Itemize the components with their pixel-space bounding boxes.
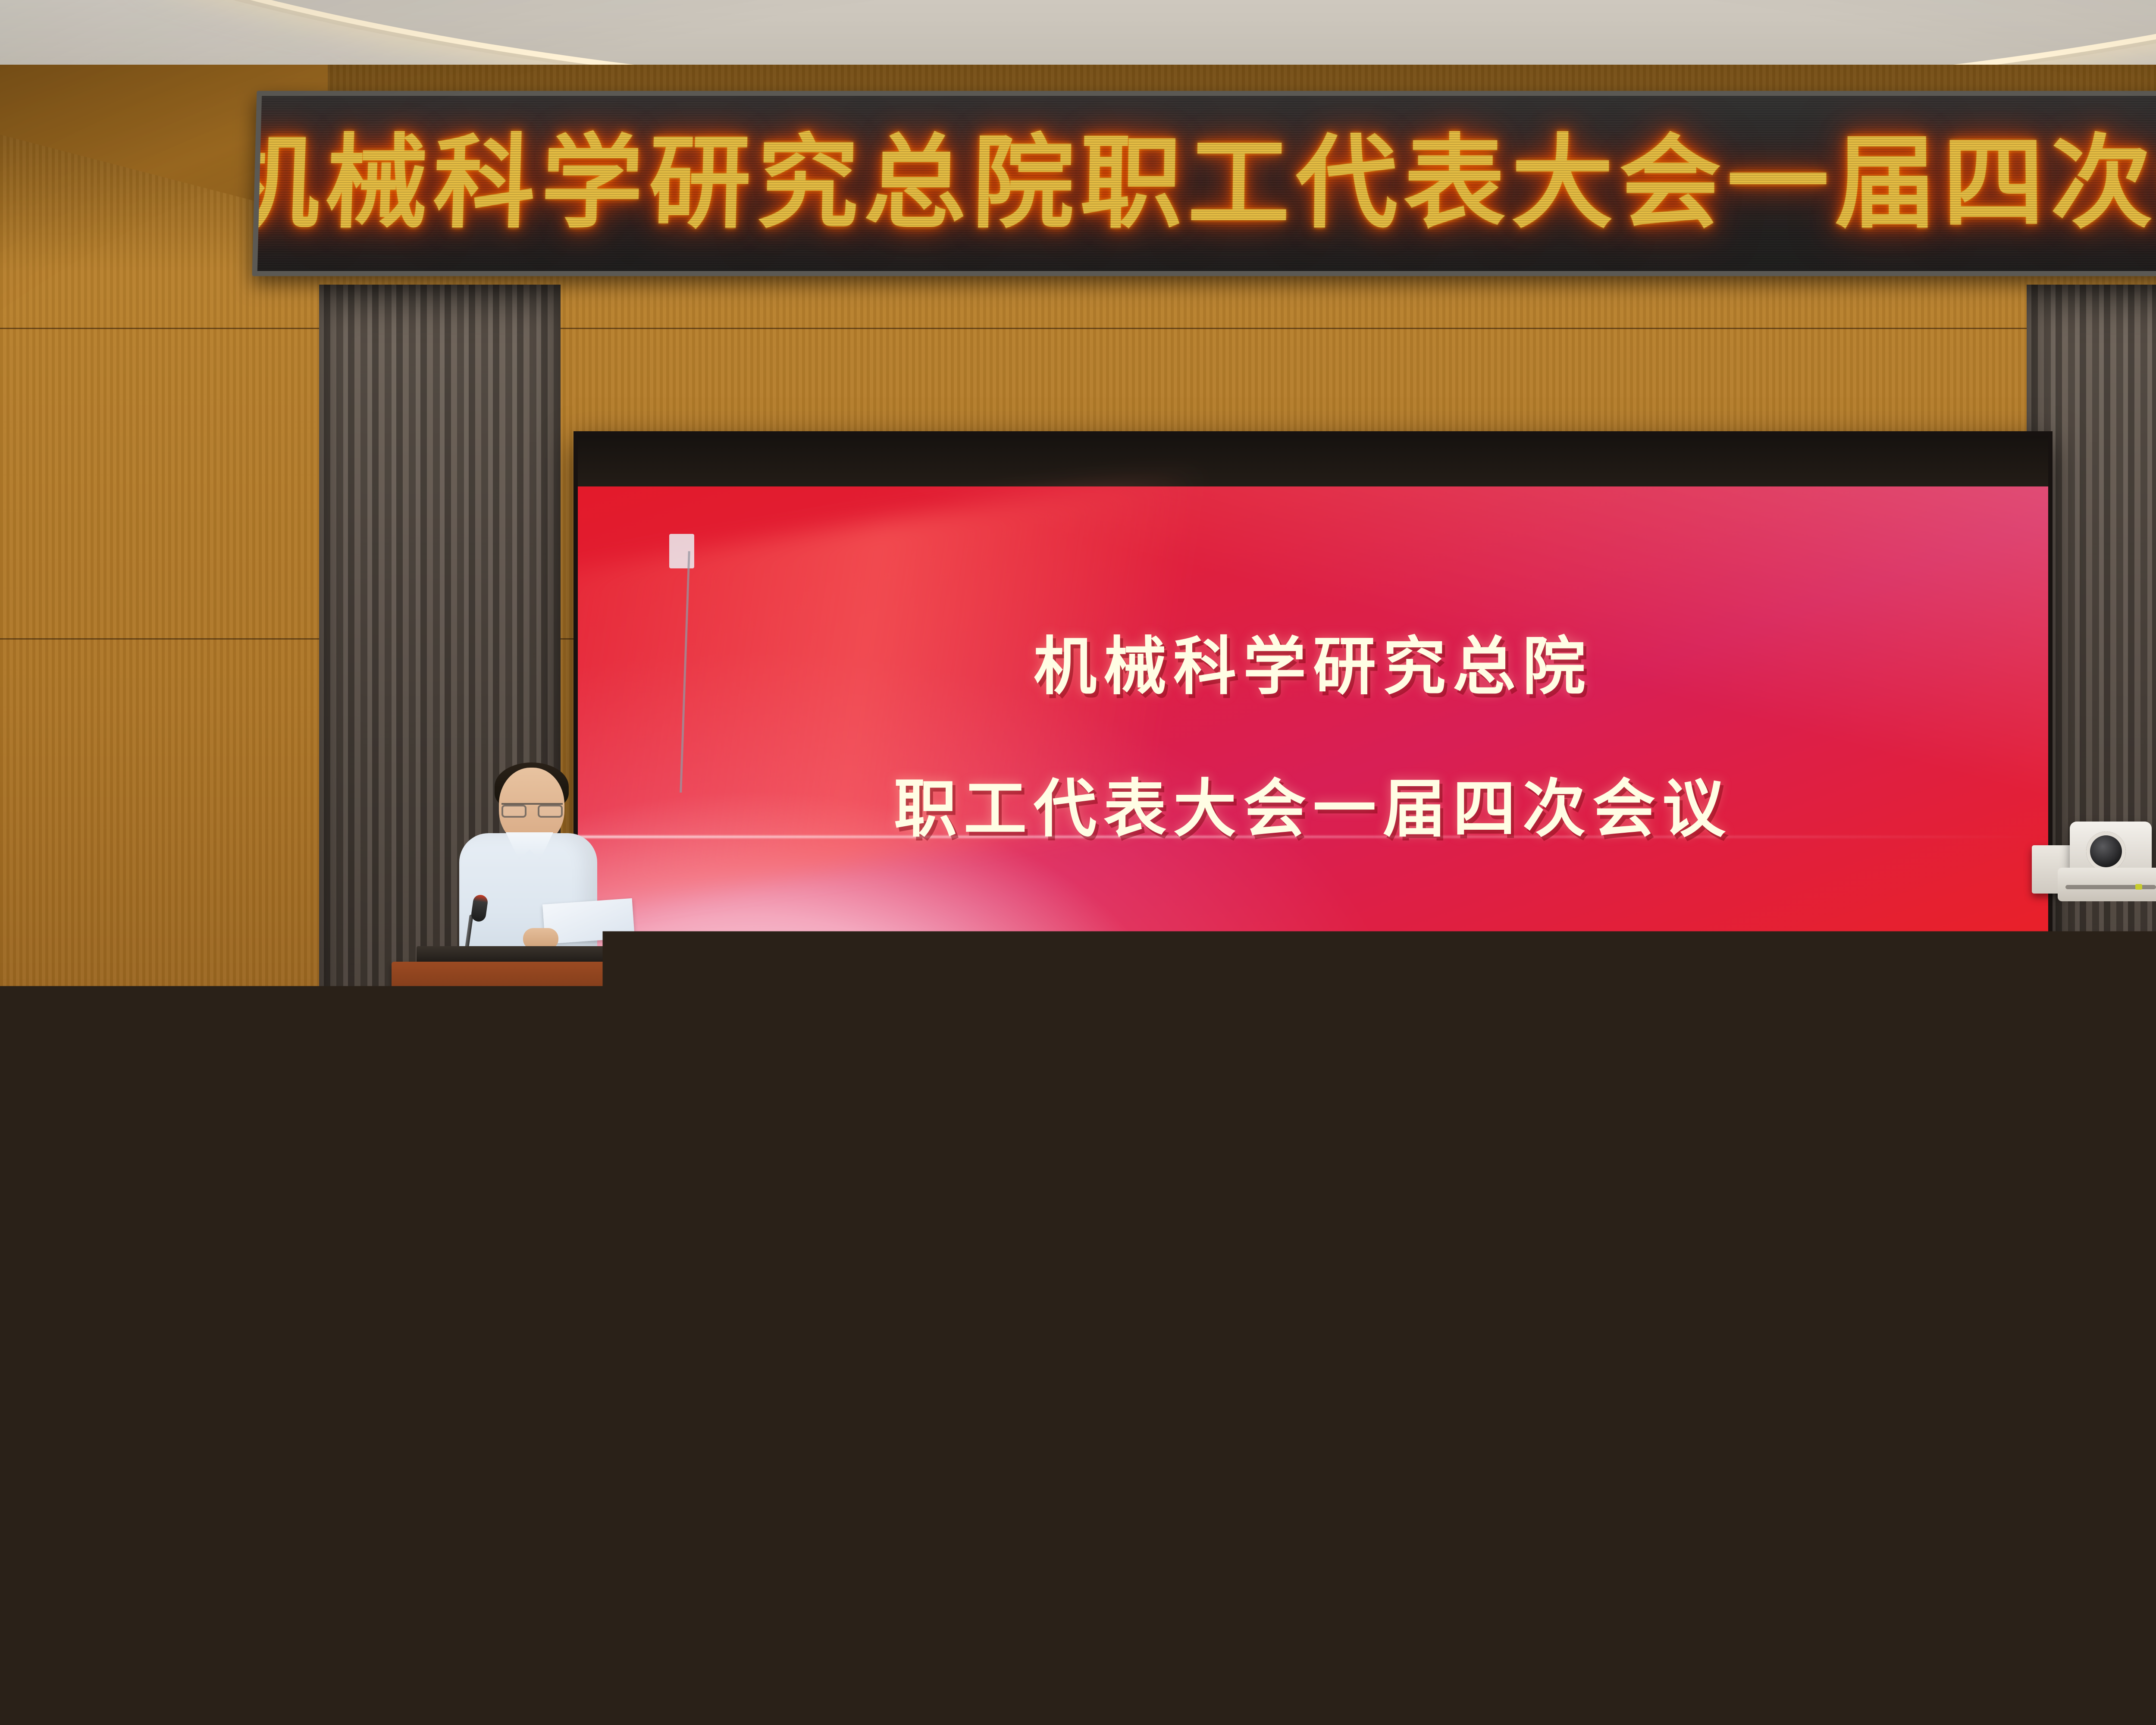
- camera-ir-slot: [2065, 885, 2156, 889]
- chair: [1846, 1621, 2156, 1725]
- led-banner-text: 机械科学研究总院职工代表大会一届四次会议: [252, 132, 2156, 234]
- podium-speaker: [459, 768, 597, 970]
- laptop: [47, 1289, 142, 1320]
- camera-status-led: [2135, 884, 2142, 890]
- camera-lens-icon: [2086, 831, 2126, 871]
- screen-surface: 机械科学研究总院 职工代表大会一届四次会议 机械科学研究总院 China Aca…: [578, 486, 2048, 1130]
- slide-title: 机械科学研究总院: [578, 616, 2048, 707]
- podium-top-rail: [392, 962, 643, 998]
- projection-screen: 机械科学研究总院 职工代表大会一届四次会议 机械科学研究总院 China Aca…: [573, 431, 2053, 1130]
- speaker-glasses-icon: [501, 803, 563, 817]
- led-banner: 机械科学研究总院职工代表大会一届四次会议: [252, 91, 2156, 276]
- chair: [401, 1613, 729, 1725]
- wall-plate: [669, 534, 694, 568]
- slide-subtitle: 职工代表大会一届四次会议: [578, 758, 2048, 849]
- placard-name-text: 王亮: [142, 1249, 185, 1276]
- conference-hall-photo: 机械科学研究总院职工代表大会一届四次会议 机械科学研究总院 职工代表大会一届四次…: [0, 0, 2156, 1725]
- name-placard: 王亮: [116, 1231, 211, 1287]
